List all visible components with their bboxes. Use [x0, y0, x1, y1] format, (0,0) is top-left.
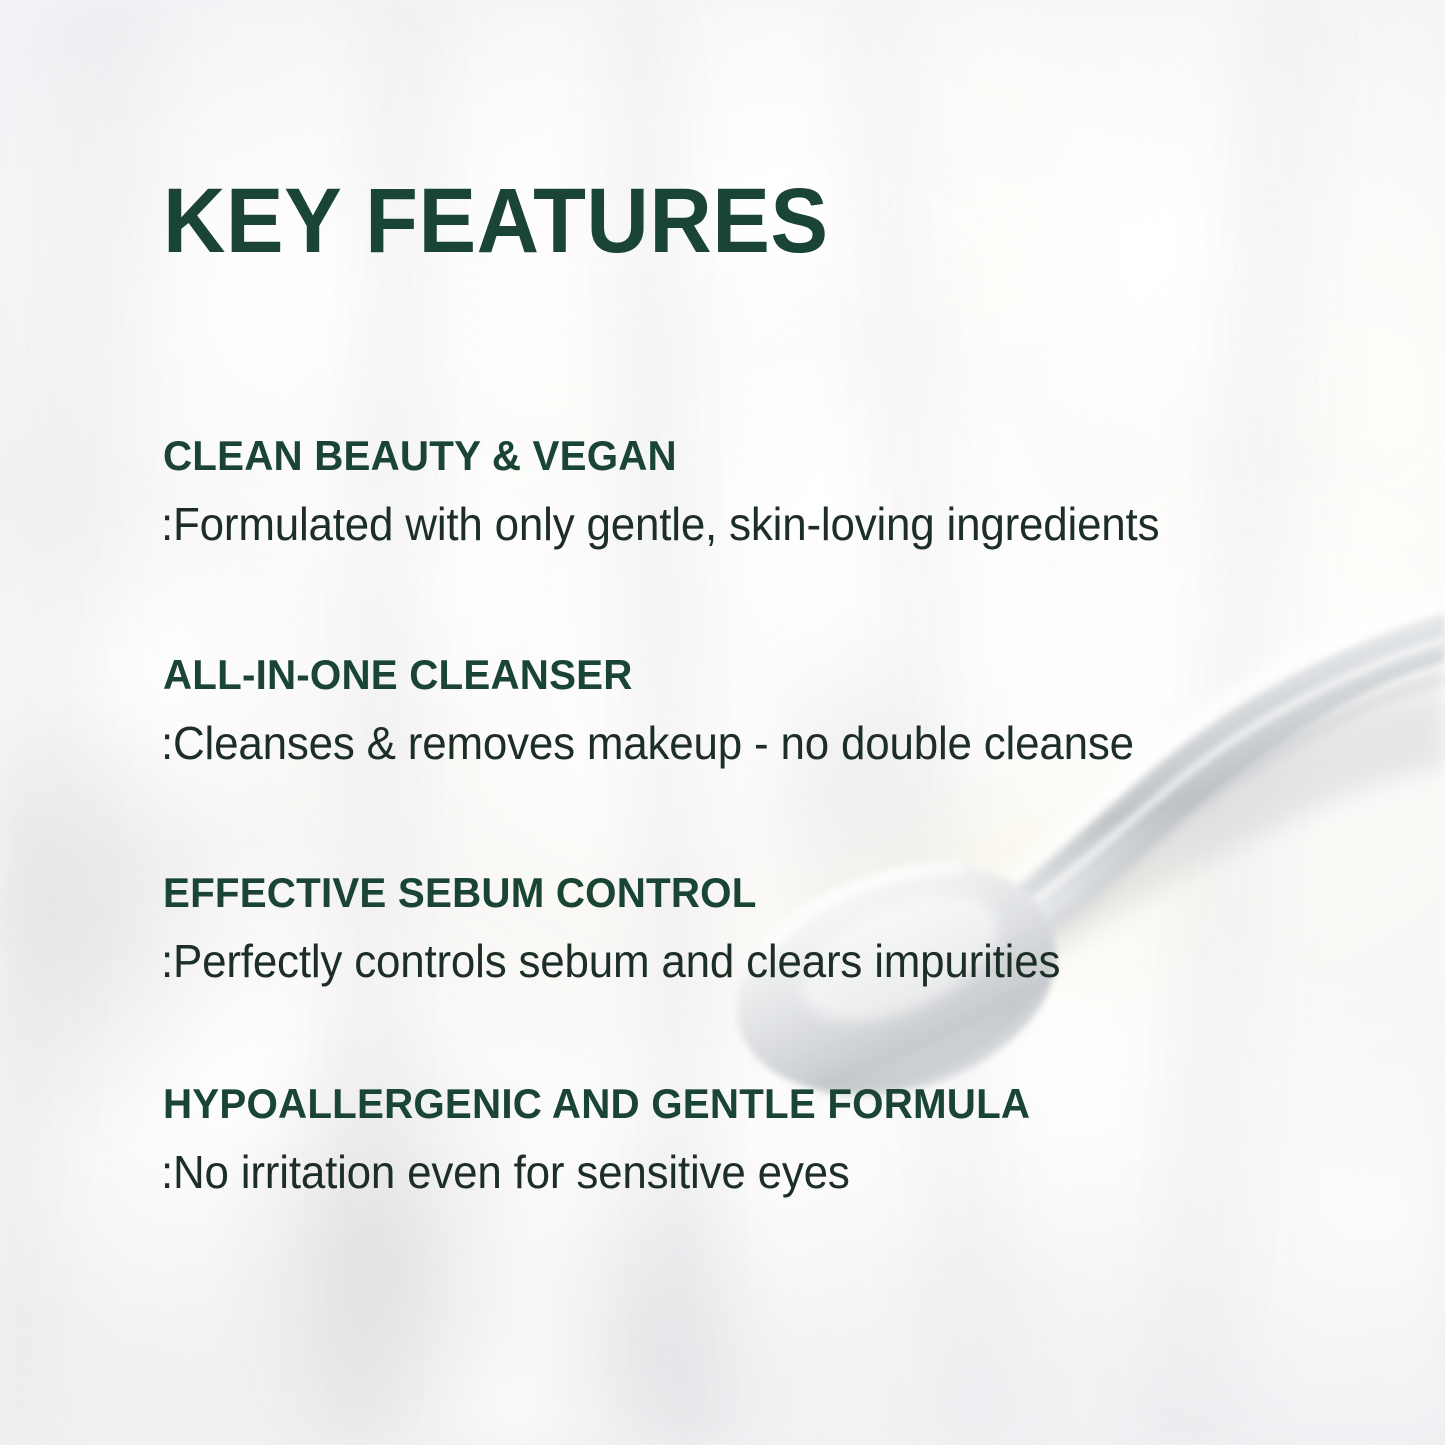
- feature-description: :Perfectly controls sebum and clears imp…: [161, 937, 1357, 987]
- feature-item: CLEAN BEAUTY & VEGAN :Formulated with on…: [163, 433, 1413, 550]
- feature-title: CLEAN BEAUTY & VEGAN: [163, 433, 1363, 478]
- feature-description: :Cleanses & removes makeup - no double c…: [161, 719, 1357, 769]
- page-title: KEY FEATURES: [163, 175, 829, 267]
- feature-description: :Formulated with only gentle, skin-lovin…: [161, 500, 1357, 550]
- feature-title: ALL-IN-ONE CLEANSER: [163, 652, 1363, 697]
- feature-item: EFFECTIVE SEBUM CONTROL :Perfectly contr…: [163, 870, 1413, 987]
- feature-description: :No irritation even for sensitive eyes: [161, 1148, 1357, 1198]
- feature-title: HYPOALLERGENIC AND GENTLE FORMULA: [163, 1081, 1363, 1126]
- feature-item: ALL-IN-ONE CLEANSER :Cleanses & removes …: [163, 652, 1413, 769]
- feature-item: HYPOALLERGENIC AND GENTLE FORMULA :No ir…: [163, 1081, 1413, 1198]
- content-layer: KEY FEATURES CLEAN BEAUTY & VEGAN :Formu…: [0, 0, 1445, 1445]
- feature-title: EFFECTIVE SEBUM CONTROL: [163, 870, 1363, 915]
- key-features-graphic: KEY FEATURES CLEAN BEAUTY & VEGAN :Formu…: [0, 0, 1445, 1445]
